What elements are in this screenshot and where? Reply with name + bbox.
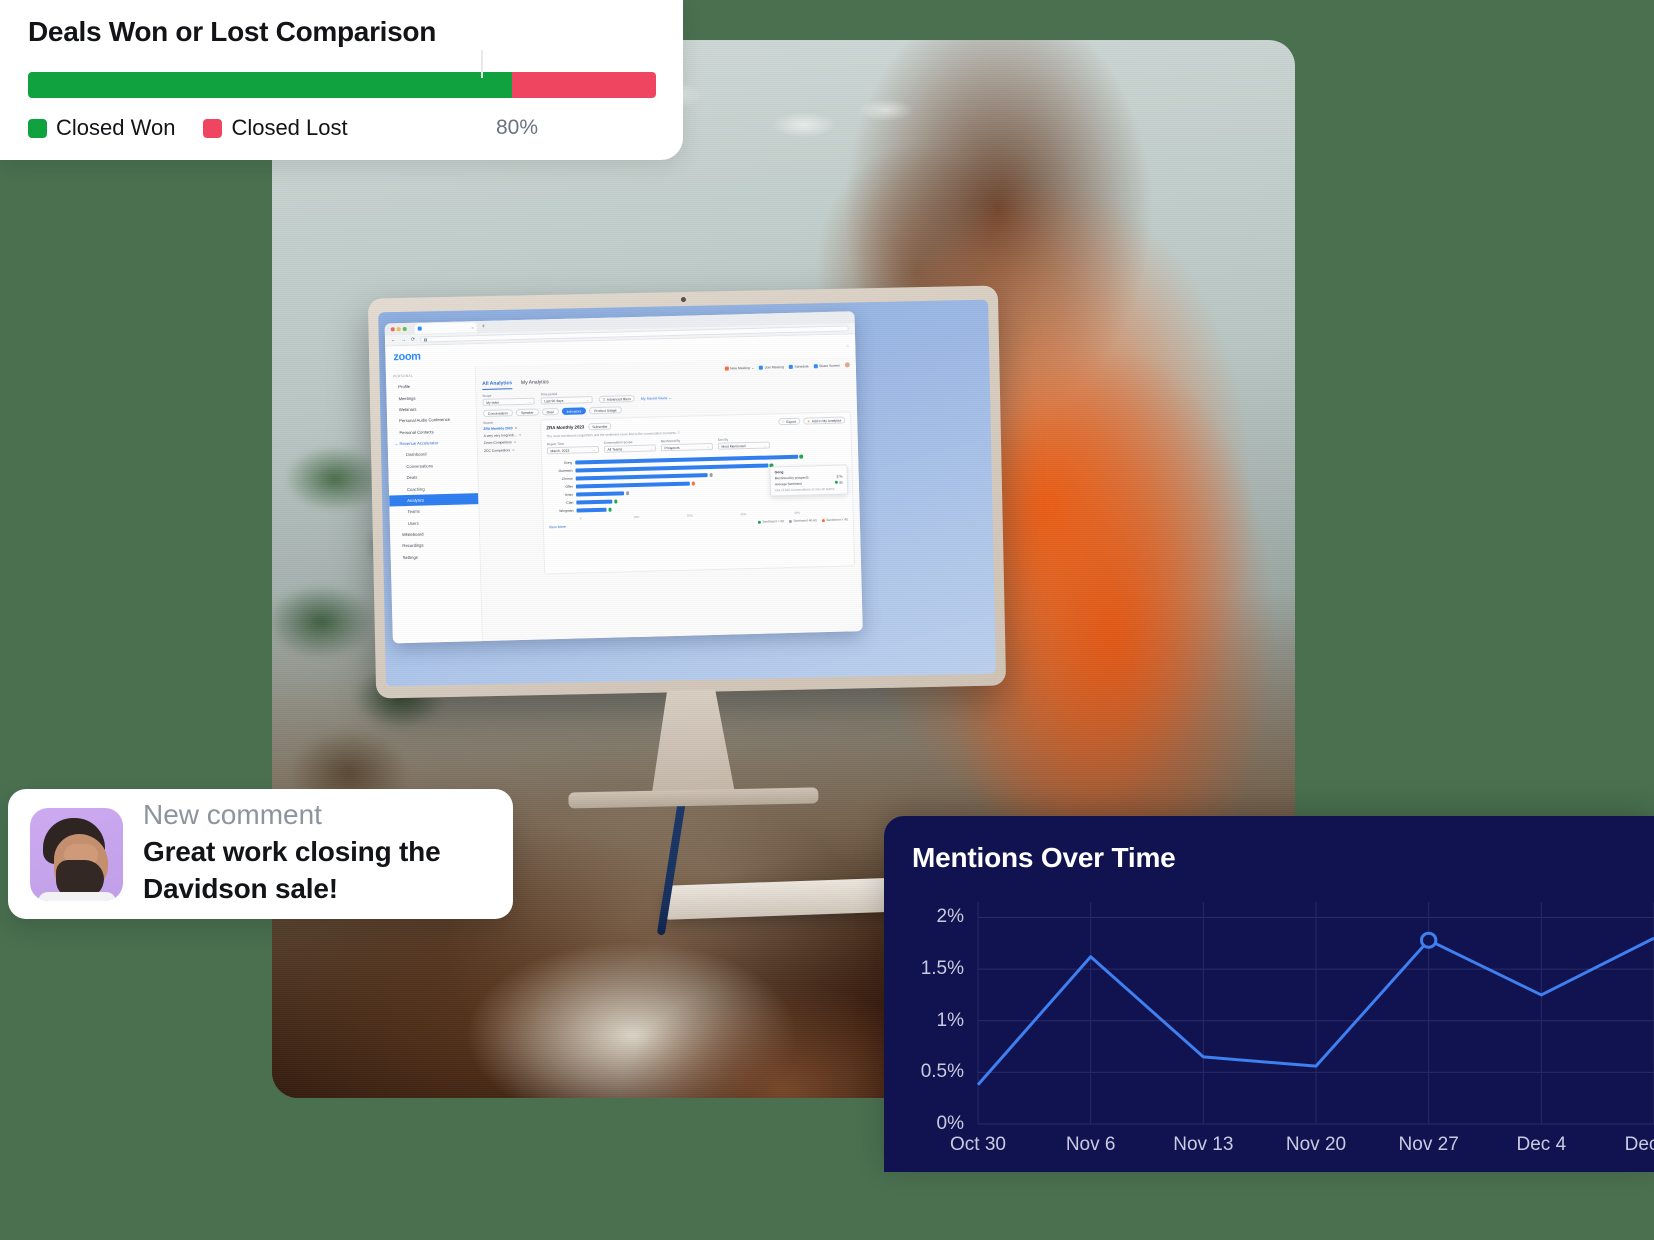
sidebar-item-label: Revenue Accelerator bbox=[399, 440, 438, 446]
search-item-zcc-competitors[interactable]: ZCC Competitors✕ bbox=[484, 447, 536, 452]
view-more-link[interactable]: View More bbox=[549, 525, 566, 529]
mentions-chart-title: Mentions Over Time bbox=[912, 842, 1654, 874]
remove-icon[interactable]: ✕ bbox=[514, 440, 517, 444]
browser-tab[interactable]: × bbox=[415, 322, 477, 334]
bar-label: Offer bbox=[548, 485, 576, 490]
deals-comparison-card: Deals Won or Lost Comparison Closed Won … bbox=[0, 0, 683, 160]
remove-icon[interactable]: ✕ bbox=[515, 426, 518, 430]
avatar-body bbox=[38, 892, 116, 901]
chevron-down-icon: ⌄ bbox=[593, 448, 596, 452]
comment-heading: New comment bbox=[143, 800, 491, 831]
search-item-label: ZRA Monthly 2023 bbox=[483, 426, 512, 431]
highlighted-data-point[interactable] bbox=[1421, 933, 1435, 947]
tooltip-title: Gong bbox=[775, 469, 843, 475]
y-tick-label: 1.5% bbox=[921, 958, 964, 980]
subscribe-button[interactable]: Subscribe bbox=[588, 423, 611, 431]
deals-percent-label: 80% bbox=[496, 116, 538, 140]
x-tick-label: 10% bbox=[633, 514, 687, 519]
star-icon: ★ bbox=[807, 419, 810, 423]
sentiment-legend: Sentiment > 60 Sentiment 40-60 Sentiment… bbox=[758, 517, 848, 523]
chip-speaker[interactable]: Speaker bbox=[516, 409, 539, 417]
bar-tooltip: Gong Mentioned by prospects37% Average S… bbox=[769, 464, 848, 496]
closed-won-segment bbox=[28, 72, 512, 98]
tooltip-note: Out of 200 conversations across all team… bbox=[775, 486, 843, 492]
avatar bbox=[30, 808, 123, 901]
sentiment-dot-icon bbox=[789, 519, 792, 522]
conversation-scope-value: All Teams bbox=[607, 447, 622, 451]
mentioned-by-field: Mentioned By Prospects⌄ bbox=[661, 438, 713, 451]
export-icon: ♡ bbox=[782, 420, 785, 424]
chip-product-usage[interactable]: Product Usage bbox=[589, 406, 622, 414]
time-period-field: Time period Last 90 days⌄ bbox=[540, 391, 592, 404]
report-description-text: The most mentioned competitors and the s… bbox=[547, 431, 676, 438]
scope-field: Scope My team⌄ bbox=[482, 393, 534, 406]
bar-label: Aviso bbox=[548, 493, 576, 498]
monitor-screen: × + ← → ⟳ zoom ☆ PE bbox=[378, 300, 996, 687]
comment-text-block: New comment Great work closing the David… bbox=[143, 800, 491, 909]
sort-by-value: Most Mentioned bbox=[721, 444, 745, 449]
back-icon[interactable]: ← bbox=[391, 337, 396, 343]
bar-label: Wingman bbox=[548, 509, 576, 514]
favicon-icon bbox=[418, 327, 422, 331]
remove-icon[interactable]: ✕ bbox=[519, 433, 522, 437]
legend-item-mid: Sentiment 40-60 bbox=[789, 518, 817, 523]
sentiment-dot-icon bbox=[799, 455, 802, 458]
avatar[interactable] bbox=[845, 362, 850, 367]
chevron-down-icon: ⌄ bbox=[587, 398, 590, 402]
report-time-select[interactable]: March, 2023⌄ bbox=[547, 446, 599, 454]
sentiment-dot-icon bbox=[626, 491, 629, 494]
close-tab-icon[interactable]: × bbox=[471, 325, 473, 330]
sentiment-value: 85 bbox=[839, 480, 843, 484]
y-tick-label: 2% bbox=[937, 906, 964, 928]
bar-fill[interactable] bbox=[576, 499, 612, 505]
x-tick-label: 40% bbox=[794, 509, 848, 514]
browser-window: × + ← → ⟳ zoom ☆ PE bbox=[385, 311, 863, 643]
sort-by-select[interactable]: Most Mentioned⌄ bbox=[718, 441, 770, 449]
join-meeting-label: Join Meeting bbox=[765, 365, 784, 370]
x-tick-label: Nov 6 bbox=[1066, 1134, 1116, 1156]
closed-lost-segment bbox=[512, 72, 656, 98]
y-tick-label: 0% bbox=[937, 1113, 964, 1135]
search-item-label: A very very long indi... bbox=[484, 433, 517, 438]
legend-label: Sentiment > 60 bbox=[762, 519, 784, 524]
mentions-chart-area: 0%0.5%1%1.5%2% Oct 30Nov 6Nov 13Nov 20No… bbox=[912, 902, 1654, 1172]
advanced-filters-label: Advanced filters bbox=[607, 397, 631, 402]
add-label: Add to My Analytics bbox=[812, 418, 842, 423]
search-item-label: ZCC Competitors bbox=[484, 448, 510, 453]
bar-label: Clari bbox=[548, 501, 576, 506]
chip-indicators[interactable]: Indicators bbox=[561, 407, 586, 415]
main-content: New Meeting⌄ Join Meeting Schedule Share… bbox=[476, 356, 863, 641]
saved-views-link[interactable]: My Saved Views ⌄ bbox=[641, 396, 672, 402]
legend-item-low: Sentiment < 40 bbox=[822, 517, 848, 522]
closed-lost-label: Closed Lost bbox=[231, 115, 347, 141]
chevron-down-icon: ⌄ bbox=[707, 445, 710, 449]
x-tick-label: Nov 13 bbox=[1173, 1134, 1233, 1156]
mentioned-by-value: Prospects bbox=[664, 445, 679, 449]
chevron-down-icon: ⌄ bbox=[764, 443, 767, 447]
search-item-zoom-competitors[interactable]: Zoom Competitors✕ bbox=[484, 440, 536, 445]
time-period-select[interactable]: Last 90 days⌄ bbox=[541, 396, 593, 404]
bar-label: Gong bbox=[547, 461, 575, 466]
bar-label: Chorus bbox=[548, 477, 576, 482]
sentiment-dot-icon bbox=[835, 481, 838, 484]
add-to-my-analytics-button[interactable]: ★Add to My Analytics bbox=[803, 417, 845, 425]
tooltip-row-sentiment: Average Sentiment85 bbox=[775, 480, 843, 486]
forward-icon[interactable]: → bbox=[401, 337, 406, 343]
advanced-filters-button[interactable]: ▽Advanced filters bbox=[599, 395, 635, 403]
bar-fill[interactable] bbox=[576, 491, 624, 497]
closed-lost-swatch-icon bbox=[203, 119, 222, 138]
x-tick-label: 0 bbox=[580, 515, 634, 520]
sentiment-dot-icon bbox=[710, 473, 713, 476]
x-tick-label: Nov 20 bbox=[1286, 1134, 1346, 1156]
tooltip-row-label: Average Sentiment bbox=[775, 481, 802, 486]
search-column: Search ZRA Monthly 2023✕ A very very lon… bbox=[483, 420, 539, 576]
tooltip-row-value: 37% bbox=[836, 475, 842, 479]
share-screen-button[interactable]: Share Screen bbox=[814, 363, 840, 368]
tooltip-row-value: 85 bbox=[835, 480, 843, 484]
zoom-logo: zoom bbox=[393, 351, 420, 364]
sentiment-dot-icon bbox=[608, 508, 611, 511]
conversation-scope-select[interactable]: All Teams⌄ bbox=[604, 444, 656, 452]
report-card-actions: ♡Export ★Add to My Analytics bbox=[778, 417, 846, 426]
deals-bar-tick bbox=[481, 50, 483, 78]
export-button[interactable]: ♡Export bbox=[778, 418, 801, 426]
legend-closed-lost: Closed Lost bbox=[203, 115, 347, 141]
x-tick-label: Oct 30 bbox=[950, 1134, 1006, 1156]
deals-progress-bar bbox=[28, 72, 656, 98]
export-label: Export bbox=[786, 419, 796, 423]
legend-label: Sentiment < 40 bbox=[826, 517, 848, 522]
closed-won-swatch-icon bbox=[28, 119, 47, 138]
new-meeting-label: New Meeting bbox=[730, 365, 750, 370]
webcam-icon bbox=[680, 297, 685, 302]
chevron-down-icon: ⌄ bbox=[529, 399, 532, 403]
x-tick-label: 30% bbox=[740, 511, 794, 516]
app-body: PERSONAL Profile Meetings Webinars Perso… bbox=[386, 356, 863, 643]
y-axis-labels: 0%0.5%1%1.5%2% bbox=[912, 902, 970, 1124]
conversation-scope-field: Conversation Scope All Teams⌄ bbox=[604, 439, 656, 452]
mentions-line-svg bbox=[978, 902, 1654, 1124]
scope-select[interactable]: My team⌄ bbox=[483, 398, 535, 406]
sentiment-dot-icon bbox=[758, 520, 761, 523]
report-card: ZRA Monthly 2023 Subscribe ♡Export ★Add … bbox=[540, 411, 855, 574]
tooltip-row-label: Mentioned by prospects bbox=[775, 475, 809, 480]
maximize-icon[interactable] bbox=[403, 327, 407, 331]
time-period-value: Last 90 days bbox=[544, 398, 563, 403]
sentiment-dot-icon bbox=[692, 482, 695, 485]
x-tick-label: Dec 11 bbox=[1625, 1134, 1654, 1156]
mentions-over-time-card: Mentions Over Time 0%0.5%1%1.5%2% Oct 30… bbox=[884, 816, 1654, 1172]
lock-icon bbox=[424, 338, 427, 341]
report-title: ZRA Monthly 2023 bbox=[546, 424, 584, 430]
deals-legend: Closed Won Closed Lost 80% bbox=[28, 115, 655, 141]
y-tick-label: 1% bbox=[937, 1010, 964, 1032]
tab-my-analytics[interactable]: My Analytics bbox=[521, 379, 549, 389]
sort-by-field: Sort By Most Mentioned⌄ bbox=[718, 436, 770, 449]
scope-value: My team bbox=[486, 400, 499, 404]
x-axis-labels: Oct 30Nov 6Nov 13Nov 20Nov 27Dec 4Dec 11 bbox=[978, 1134, 1654, 1164]
search-item-long-indicator[interactable]: A very very long indi...✕ bbox=[484, 433, 536, 438]
join-meeting-button[interactable]: Join Meeting bbox=[759, 365, 784, 370]
filter-icon: ▽ bbox=[603, 397, 606, 401]
sidebar-item-settings[interactable]: Settings bbox=[391, 550, 480, 564]
share-icon bbox=[814, 364, 818, 368]
remove-icon[interactable]: ✕ bbox=[512, 448, 515, 452]
bookmark-star-icon[interactable]: ☆ bbox=[846, 343, 850, 348]
close-icon[interactable] bbox=[391, 328, 395, 332]
legend-closed-won: Closed Won bbox=[28, 115, 175, 141]
video-icon bbox=[725, 366, 729, 370]
tab-all-analytics[interactable]: All Analytics bbox=[482, 380, 512, 390]
plus-icon bbox=[759, 365, 763, 369]
chevron-down-icon: ⌄ bbox=[751, 365, 754, 369]
closed-won-label: Closed Won bbox=[56, 115, 175, 141]
comment-body: Great work closing the Davidson sale! bbox=[143, 834, 491, 908]
x-tick-label: Nov 27 bbox=[1399, 1134, 1459, 1156]
x-tick-label: Dec 4 bbox=[1517, 1134, 1567, 1156]
reload-icon[interactable]: ⟳ bbox=[411, 337, 415, 343]
chip-deal[interactable]: Deal bbox=[541, 408, 558, 415]
report-time-field: Report Time March, 2023⌄ bbox=[547, 441, 599, 454]
report-panel: Search ZRA Monthly 2023✕ A very very lon… bbox=[483, 411, 855, 576]
mentions-plot bbox=[978, 902, 1654, 1124]
schedule-button[interactable]: Schedule bbox=[789, 364, 809, 369]
sentiment-dot-icon bbox=[614, 500, 617, 503]
calendar-icon bbox=[789, 364, 793, 368]
x-tick-label: 20% bbox=[687, 512, 741, 517]
bar-label: Outreach bbox=[547, 469, 575, 474]
desktop-monitor: × + ← → ⟳ zoom ☆ PE bbox=[368, 285, 1006, 698]
saved-views-label: My Saved Views bbox=[641, 396, 668, 401]
search-label: Search bbox=[483, 420, 535, 425]
new-tab-icon[interactable]: + bbox=[482, 324, 486, 330]
sentiment-dot-icon bbox=[822, 519, 825, 522]
minimize-icon[interactable] bbox=[397, 327, 401, 331]
new-meeting-button[interactable]: New Meeting⌄ bbox=[725, 365, 755, 370]
legend-label: Sentiment 40-60 bbox=[793, 518, 816, 523]
mentioned-by-select[interactable]: Prospects⌄ bbox=[661, 443, 713, 451]
y-tick-label: 0.5% bbox=[921, 1061, 964, 1083]
schedule-label: Schedule bbox=[794, 364, 808, 368]
search-item-label: Zoom Competitors bbox=[484, 441, 512, 446]
report-filters: Report Time March, 2023⌄ Conversation Sc… bbox=[547, 434, 846, 454]
new-comment-card: New comment Great work closing the David… bbox=[8, 789, 513, 919]
chevron-down-icon: ⌄ bbox=[650, 446, 653, 450]
sidebar: PERSONAL Profile Meetings Webinars Perso… bbox=[386, 366, 483, 643]
share-screen-label: Share Screen bbox=[819, 363, 840, 368]
report-time-value: March, 2023 bbox=[550, 448, 569, 452]
search-item-zra-monthly[interactable]: ZRA Monthly 2023✕ bbox=[483, 426, 535, 431]
legend-item-high: Sentiment > 60 bbox=[758, 519, 784, 524]
info-icon[interactable]: ⓘ bbox=[677, 431, 680, 435]
chip-conversation[interactable]: Conversation bbox=[483, 409, 513, 417]
bar-fill[interactable] bbox=[576, 507, 606, 512]
deals-card-title: Deals Won or Lost Comparison bbox=[28, 16, 655, 48]
